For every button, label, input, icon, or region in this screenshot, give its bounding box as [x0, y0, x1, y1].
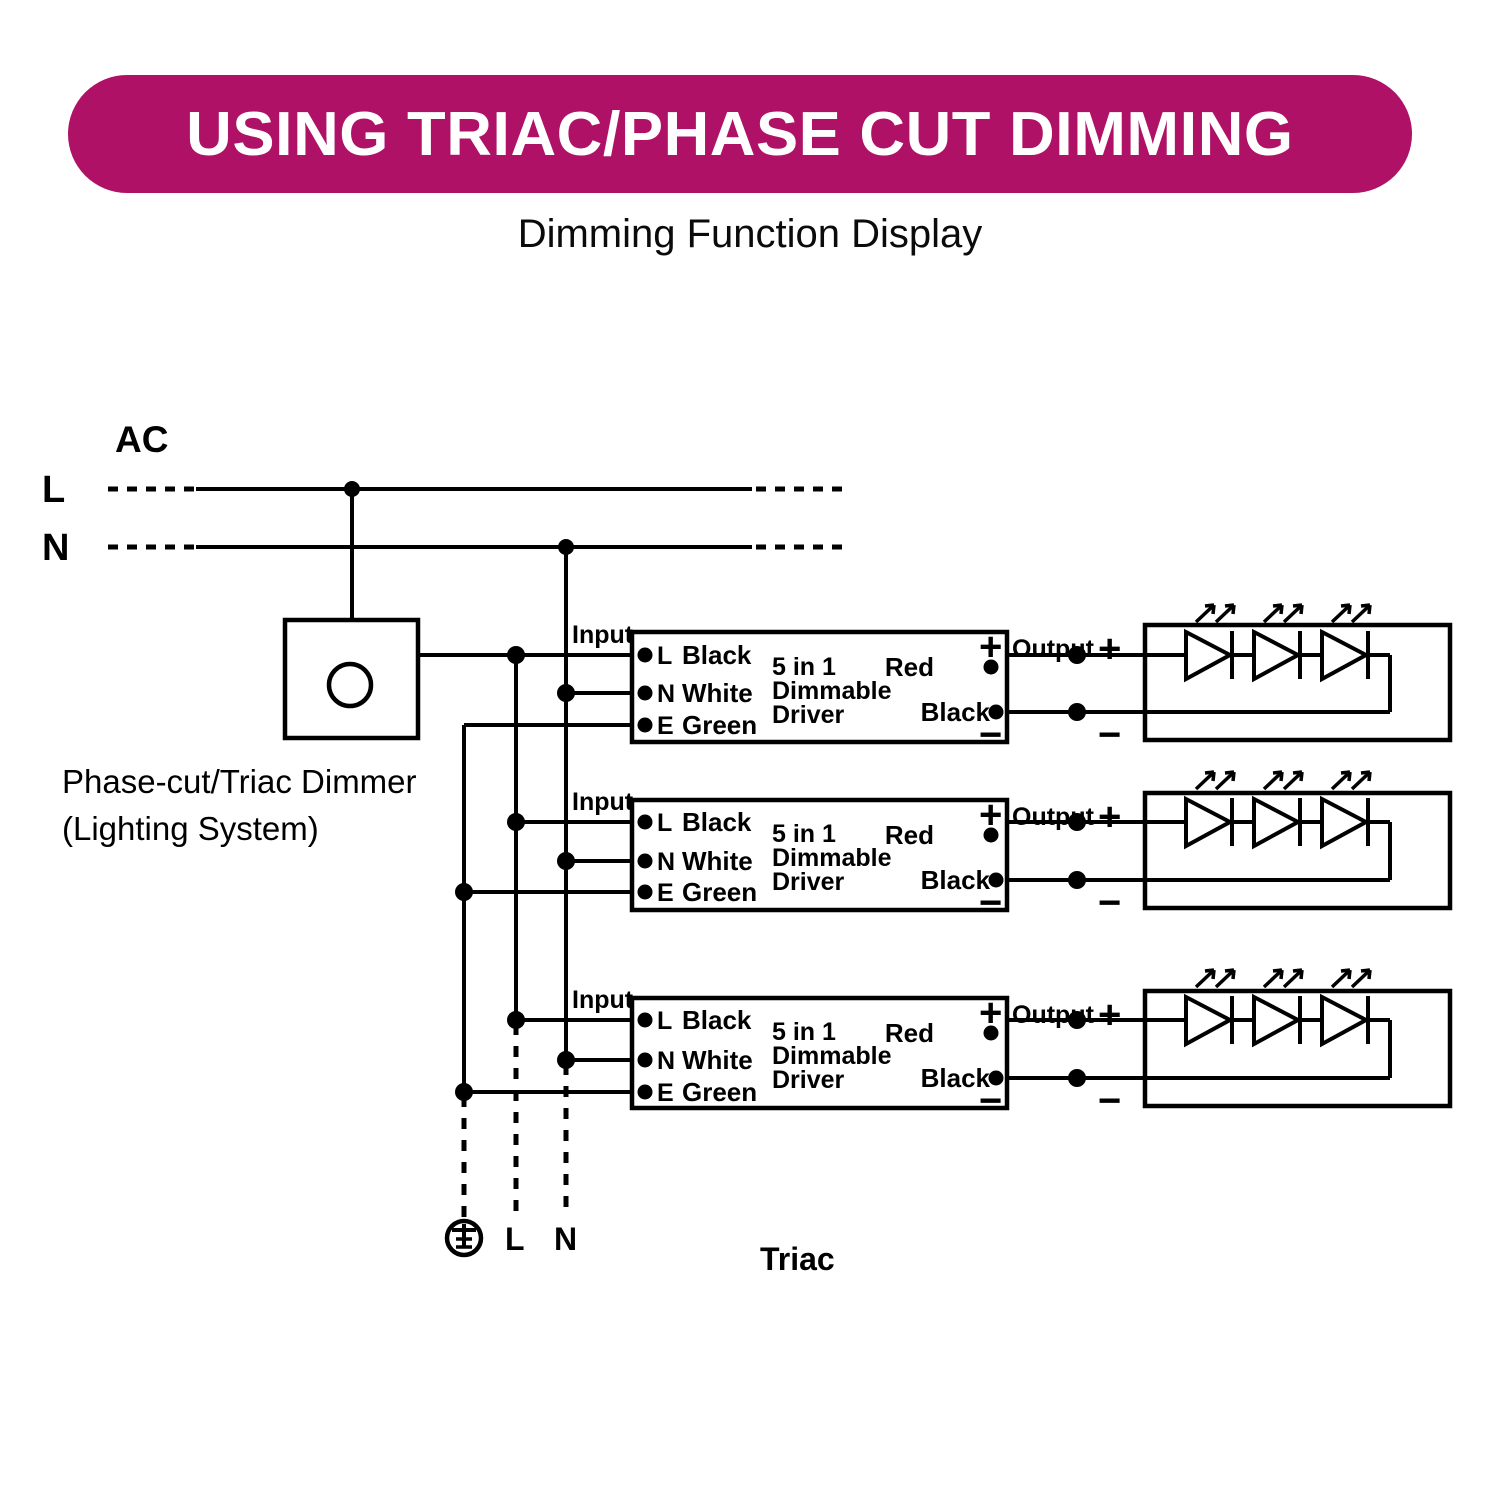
driver3-input-label: Input [572, 986, 634, 1014]
driver1-pin-dot-l [638, 648, 653, 663]
driver3-pin-terminal-e: E [657, 1079, 674, 1107]
driver2-pin-dot-e [638, 885, 653, 900]
driver1-pin-terminal-e: E [657, 712, 674, 740]
driver3-pin-dot-l [638, 1013, 653, 1028]
driver1-out-dot-red [984, 660, 999, 675]
driver2-pin-terminal-l: L [657, 809, 672, 837]
dimmer-caption-line2: (Lighting System) [62, 810, 319, 847]
bottom-line-label: L [505, 1221, 525, 1257]
footer-label-triac: Triac [760, 1241, 835, 1277]
driver1-pin-wire-l: Black [682, 640, 752, 670]
driver-group-2[interactable]: Input L Black N White E Green 5 in 1 Dim… [455, 788, 1145, 925]
driver3-output-label: Output [1012, 1001, 1095, 1029]
driver1-pin-wire-n: White [682, 678, 753, 708]
driver3-pin-terminal-l: L [657, 1007, 672, 1035]
driver1-pin-terminal-l: L [657, 642, 672, 670]
led-module-2 [1145, 772, 1450, 908]
driver3-out-minus: − [979, 1079, 1002, 1123]
driver2-pin-wire-l: Black [682, 807, 752, 837]
junction-dot-driver2-l [507, 813, 525, 831]
driver1-pin-dot-e [638, 718, 653, 733]
driver3-led-plus: + [1098, 993, 1121, 1037]
junction-dot-n-rail [558, 539, 574, 555]
driver3-pin-wire-l: Black [682, 1005, 752, 1035]
driver2-input-label: Input [572, 788, 634, 816]
driver1-pin-dot-n [638, 686, 653, 701]
junction-dot-driver2-e [455, 883, 473, 901]
driver3-led-minus: − [1098, 1079, 1121, 1123]
dimmer-caption-line1: Phase-cut/Triac Dimmer [62, 763, 417, 800]
driver2-out-minus: − [979, 881, 1002, 925]
driver3-title-line3: Driver [772, 1066, 845, 1094]
junction-dot-l-rail [344, 481, 360, 497]
driver1-out-minus: − [979, 713, 1002, 757]
driver1-input-label: Input [572, 621, 634, 649]
supply-line-label: L [42, 469, 65, 511]
driver1-led-minus: − [1098, 713, 1121, 757]
driver3-pin-wire-n: White [682, 1045, 753, 1075]
junction-dot-driver2-out-minus [1068, 871, 1086, 889]
bus-group [464, 655, 516, 1092]
driver2-led-minus: − [1098, 881, 1121, 925]
wiring-diagram: AC L N Phase-cut/Triac Dimmer [0, 0, 1500, 1500]
driver3-pin-terminal-n: N [657, 1047, 675, 1075]
driver2-pin-dot-n [638, 854, 653, 869]
driver2-pin-dot-l [638, 815, 653, 830]
driver2-out-dot-red [984, 828, 999, 843]
earth-ground-icon [447, 1221, 481, 1255]
driver1-title-line3: Driver [772, 701, 845, 729]
junction-dot-driver1-l [507, 646, 525, 664]
driver1-pin-wire-e: Green [682, 710, 757, 740]
driver3-pin-dot-e [638, 1085, 653, 1100]
bottom-neutral-label: N [554, 1221, 577, 1257]
driver2-title-line3: Driver [772, 868, 845, 896]
driver3-pin-wire-e: Green [682, 1077, 757, 1107]
junction-dot-driver1-n [557, 684, 575, 702]
driver3-out-dot-red [984, 1026, 999, 1041]
driver1-output-label: Output [1012, 635, 1095, 663]
led-module-1 [1145, 605, 1450, 740]
driver1-out-wire-red: Red [885, 652, 934, 682]
driver2-pin-wire-e: Green [682, 877, 757, 907]
ac-label: AC [115, 419, 168, 460]
supply-neutral-label: N [42, 527, 69, 569]
driver2-out-wire-red: Red [885, 820, 934, 850]
junction-dot-driver2-n [557, 852, 575, 870]
driver2-led-plus: + [1098, 795, 1121, 839]
driver2-pin-terminal-e: E [657, 879, 674, 907]
junction-dot-driver3-out-minus [1068, 1069, 1086, 1087]
led-module-3 [1145, 970, 1450, 1106]
diagram-page: USING TRIAC/PHASE CUT DIMMING Dimming Fu… [0, 0, 1500, 1500]
driver3-pin-dot-n [638, 1053, 653, 1068]
driver-group-3[interactable]: Input L Black N White E Green 5 in 1 Dim… [455, 986, 1145, 1123]
driver3-out-wire-red: Red [885, 1018, 934, 1048]
driver2-pin-terminal-n: N [657, 848, 675, 876]
junction-dot-driver1-out-minus [1068, 703, 1086, 721]
driver1-pin-terminal-n: N [657, 680, 675, 708]
driver2-output-label: Output [1012, 803, 1095, 831]
dimmer-box[interactable] [285, 620, 418, 738]
driver1-led-plus: + [1098, 627, 1121, 671]
driver2-pin-wire-n: White [682, 846, 753, 876]
